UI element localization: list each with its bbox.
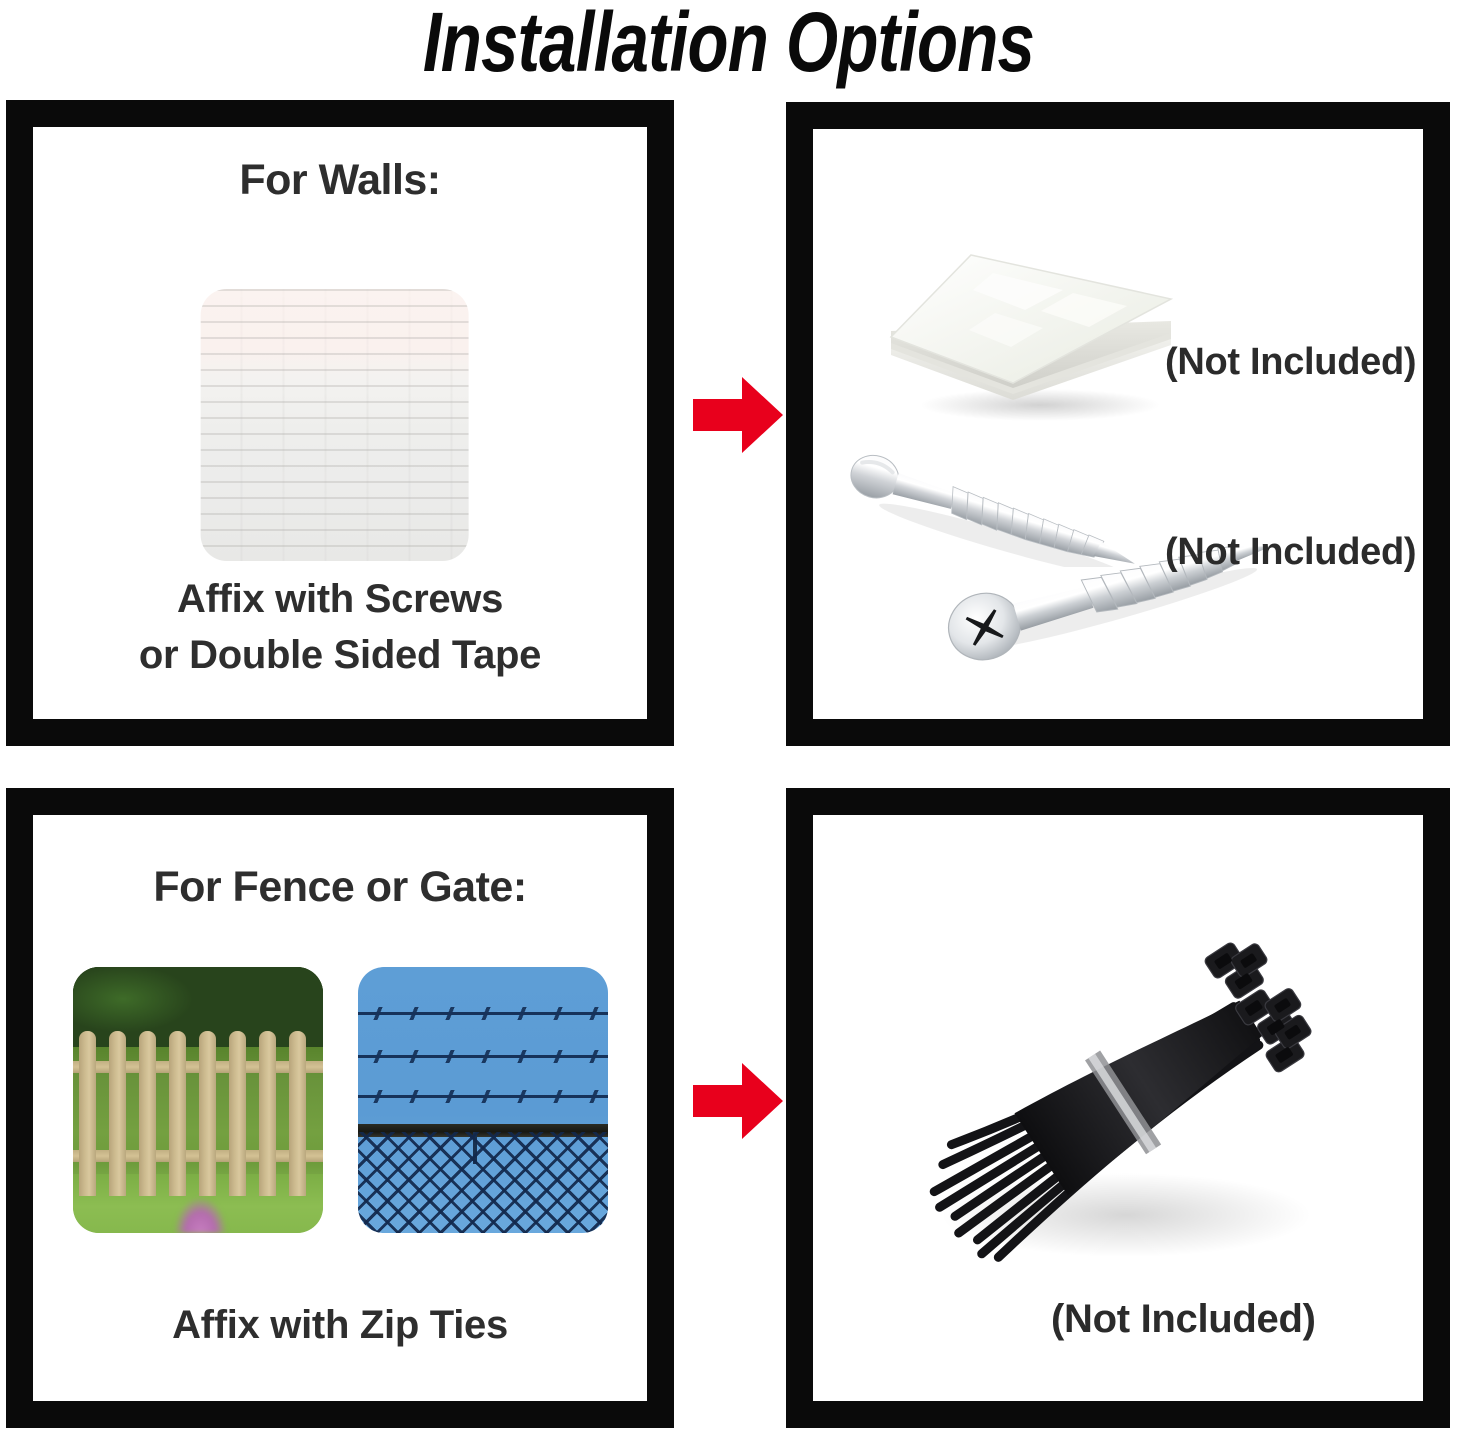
black-zip-tie-bundle-image (881, 915, 1341, 1315)
walls-caption-line-1: Affix with Screws (33, 571, 647, 627)
tape-not-included-label: (Not Included) (1165, 341, 1416, 384)
panel-walls-caption: Affix with Screws or Double Sided Tape (33, 571, 647, 683)
page-title: Installation Options (146, 0, 1312, 88)
chain-link-fence-barbed-wire-image (358, 967, 608, 1233)
red-arrow-right-icon (690, 1058, 786, 1144)
panel-fence-caption: Affix with Zip Ties (33, 1297, 647, 1353)
panel-for-walls: For Walls: Affix with Screws or Double S… (6, 100, 674, 746)
walls-caption-line-2: or Double Sided Tape (33, 627, 647, 683)
panel-zip-ties: (Not Included) (786, 788, 1450, 1428)
installation-options-infographic: Installation Options For Walls: Affix wi… (0, 0, 1457, 1434)
red-arrow-right-icon (690, 372, 786, 458)
double-sided-tape-stack-image (875, 237, 1185, 427)
panel-walls-heading: For Walls: (33, 156, 647, 205)
panel-for-fence-or-gate: For Fence or Gate: (6, 788, 674, 1428)
wooden-picket-fence-image (73, 967, 323, 1233)
panel-fence-heading: For Fence or Gate: (33, 863, 647, 912)
screws-not-included-label: (Not Included) (1165, 531, 1416, 574)
white-brick-wall-image (201, 289, 469, 561)
panel-wall-hardware: (Not Included) (786, 102, 1450, 746)
fence-thumbnail-row (33, 967, 647, 1233)
zipties-not-included-label: (Not Included) (1051, 1297, 1316, 1342)
